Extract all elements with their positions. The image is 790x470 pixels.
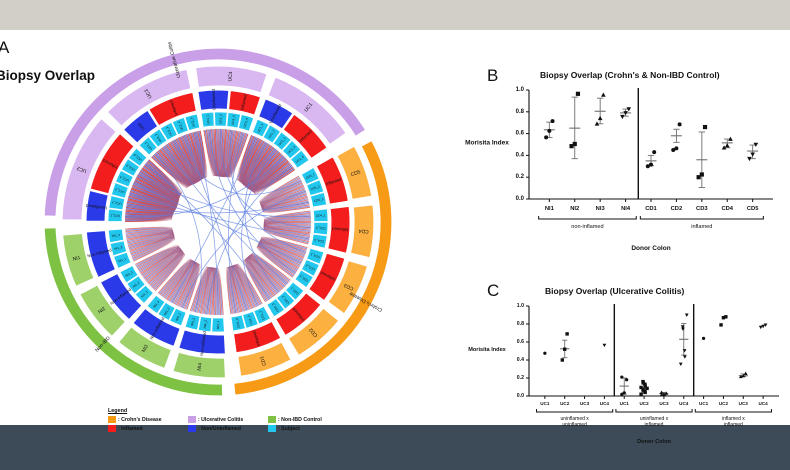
x-tick-label: CD3 bbox=[696, 206, 708, 212]
data-point bbox=[547, 129, 551, 133]
circos-sample-label: CD4_2 bbox=[316, 226, 326, 231]
y-tick-label: 1.0 bbox=[517, 303, 524, 309]
y-tick-label: 0.6 bbox=[516, 131, 525, 137]
group-bracket bbox=[539, 216, 637, 219]
data-point bbox=[565, 332, 568, 335]
y-axis-title: Morisita Index bbox=[468, 347, 506, 353]
legend-label-crohns: : Crohn's Disease bbox=[118, 417, 162, 423]
x-tick-label: UC4 bbox=[759, 401, 769, 406]
data-point bbox=[561, 358, 564, 361]
circos-legend: Legend : Crohn's Disease : Ulcerative Co… bbox=[108, 408, 348, 434]
data-point bbox=[601, 92, 606, 96]
x-tick-label: CD4 bbox=[721, 206, 733, 212]
x-tick-label: UC3 bbox=[659, 401, 669, 406]
circos-subject-label: NI4 bbox=[197, 362, 204, 371]
y-tick-label: 0.4 bbox=[517, 357, 524, 363]
data-point bbox=[678, 122, 682, 126]
group-bracket-label: inflamed bbox=[645, 422, 664, 428]
legend-swatch-crohns bbox=[108, 416, 116, 423]
y-tick-label: 0.8 bbox=[516, 109, 525, 115]
circos-segment-label: Inflamed bbox=[331, 226, 348, 232]
x-tick-label: NI3 bbox=[596, 206, 606, 212]
y-tick-label: 1.0 bbox=[516, 87, 525, 93]
legend-swatch-nonibd bbox=[268, 416, 276, 423]
data-point bbox=[750, 153, 755, 157]
panel-b-svg: 0.00.20.40.60.81.0Morisita IndexNI1NI2NI… bbox=[487, 82, 787, 257]
x-tick-label: UC3 bbox=[580, 401, 590, 406]
legend-item-inflamed: : Inflamed bbox=[108, 425, 188, 432]
x-tick-label: UC2 bbox=[639, 401, 649, 406]
circos-subject-label: UC4 bbox=[227, 71, 234, 82]
legend-title: Legend bbox=[108, 408, 348, 414]
legend-item-subject: : Subject bbox=[268, 425, 348, 432]
group-bracket-label: inflamed bbox=[724, 422, 743, 428]
data-point bbox=[639, 386, 642, 389]
data-point bbox=[563, 348, 566, 351]
legend-item-uninflamed: : Non/Uninflamed bbox=[188, 425, 268, 432]
y-tick-label: 0.0 bbox=[517, 393, 524, 399]
data-point bbox=[576, 92, 580, 96]
data-point bbox=[674, 146, 678, 150]
circos-sample-label: CD4_1 bbox=[316, 213, 326, 218]
group-bracket bbox=[695, 409, 771, 412]
x-tick-label: CD2 bbox=[671, 206, 683, 212]
x-tick-label: UC1 bbox=[699, 401, 709, 406]
x-tick-label: NI2 bbox=[570, 206, 579, 212]
data-point bbox=[719, 323, 722, 326]
y-axis-title: Morisita Index bbox=[465, 140, 509, 147]
legend-label-inflamed: : Inflamed bbox=[118, 426, 143, 432]
legend-label-uninflamed: : Non/Uninflamed bbox=[198, 426, 241, 432]
data-point bbox=[573, 142, 577, 146]
data-point bbox=[620, 115, 625, 119]
legend-swatch-uninflamed bbox=[188, 425, 196, 432]
data-point bbox=[679, 363, 683, 366]
data-point bbox=[664, 391, 668, 394]
y-tick-label: 0.2 bbox=[517, 375, 524, 381]
top-banner bbox=[0, 0, 790, 30]
legend-label-subject: : Subject bbox=[278, 426, 300, 432]
data-point bbox=[551, 119, 555, 123]
x-tick-label: UC4 bbox=[600, 401, 610, 406]
legend-swatch-subject bbox=[268, 425, 276, 432]
group-bracket bbox=[640, 216, 763, 219]
x-axis-title: Donor Colon bbox=[631, 245, 670, 252]
data-point bbox=[603, 344, 607, 347]
x-tick-label: UC2 bbox=[719, 401, 729, 406]
data-point bbox=[702, 337, 705, 340]
figure-canvas: A Biopsy Overlap UC2_1UC2_2UninflamedUC2… bbox=[0, 30, 790, 425]
circos-subject-label: CD4 bbox=[358, 228, 369, 235]
legend-swatch-uc bbox=[188, 416, 196, 423]
data-point bbox=[744, 372, 748, 375]
legend-swatch-inflamed bbox=[108, 425, 116, 432]
data-point bbox=[683, 349, 687, 352]
data-point bbox=[700, 172, 704, 176]
circos-chord-diagram: UC2_1UC2_2UninflamedUC2_3UC2_4UC2_5UC2_6… bbox=[28, 42, 408, 402]
circos-sample-label: UC2_1 bbox=[110, 213, 120, 218]
x-tick-label: NI4 bbox=[621, 206, 631, 212]
x-tick-label: CD1 bbox=[645, 206, 657, 212]
data-point bbox=[703, 125, 707, 129]
data-point bbox=[543, 352, 546, 355]
legend-item-crohns: : Crohn's Disease bbox=[108, 416, 188, 423]
data-point bbox=[639, 393, 642, 396]
x-tick-label: NI1 bbox=[545, 206, 555, 212]
data-point bbox=[625, 378, 628, 381]
chord-layer bbox=[125, 129, 311, 315]
data-point bbox=[544, 135, 548, 139]
panel-b-scatter-plot: 0.00.20.40.60.81.0Morisita IndexNI1NI2NI… bbox=[487, 82, 787, 257]
data-point bbox=[685, 314, 689, 317]
y-tick-label: 0.6 bbox=[517, 339, 524, 345]
panel-c-scatter-plot: 0.00.20.40.60.81.0Morisita IndexUC1UC2UC… bbox=[487, 298, 787, 448]
circos-sample-label: NI4_1 bbox=[216, 321, 220, 330]
x-tick-label: UC1 bbox=[620, 401, 630, 406]
data-point bbox=[725, 143, 730, 147]
panel-c-title: Biopsy Overlap (Ulcerative Colitis) bbox=[545, 286, 684, 296]
circos-sample-label: UC4_2 bbox=[219, 114, 223, 124]
x-tick-label: CD5 bbox=[747, 206, 759, 212]
data-point bbox=[641, 380, 644, 383]
group-bracket bbox=[616, 409, 692, 412]
y-tick-label: 0.2 bbox=[516, 174, 525, 180]
group-bracket-label: uninflamed bbox=[562, 422, 587, 428]
data-point bbox=[598, 116, 603, 120]
data-point bbox=[724, 315, 727, 318]
circos-segment-label: Uninflamed bbox=[211, 88, 217, 110]
x-axis-title: Donor Colon bbox=[637, 439, 671, 445]
group-bracket-label: non-inflamed bbox=[571, 224, 603, 230]
legend-item-nonibd: : Non-IBD Control bbox=[268, 416, 348, 423]
data-point bbox=[652, 150, 656, 154]
y-tick-label: 0.4 bbox=[516, 152, 525, 158]
x-tick-label: UC4 bbox=[679, 401, 689, 406]
y-tick-label: 0.0 bbox=[516, 196, 525, 202]
data-point bbox=[620, 375, 623, 378]
x-tick-label: UC3 bbox=[739, 401, 749, 406]
panel-a-letter: A bbox=[0, 38, 9, 58]
data-point bbox=[623, 391, 626, 394]
data-point bbox=[649, 163, 653, 167]
panel-b-title: Biopsy Overlap (Crohn's & Non-IBD Contro… bbox=[540, 70, 720, 80]
legend-item-uc: : Ulcerative Colitis bbox=[188, 416, 268, 423]
data-point bbox=[683, 355, 687, 358]
panel-c-svg: 0.00.20.40.60.81.0Morisita IndexUC1UC2UC… bbox=[487, 298, 787, 448]
legend-row-1: : Crohn's Disease : Ulcerative Colitis :… bbox=[108, 416, 348, 423]
x-tick-label: UC1 bbox=[540, 401, 550, 406]
circos-svg: UC2_1UC2_2UninflamedUC2_3UC2_4UC2_5UC2_6… bbox=[28, 42, 408, 402]
group-bracket bbox=[537, 409, 613, 412]
y-tick-label: 0.8 bbox=[517, 321, 524, 327]
legend-label-uc: : Ulcerative Colitis bbox=[198, 417, 243, 423]
x-tick-label: UC2 bbox=[560, 401, 570, 406]
legend-row-2: : Inflamed : Non/Uninflamed : Subject bbox=[108, 425, 348, 432]
legend-label-nonibd: : Non-IBD Control bbox=[278, 417, 322, 423]
group-bracket-label: inflamed bbox=[691, 224, 712, 230]
